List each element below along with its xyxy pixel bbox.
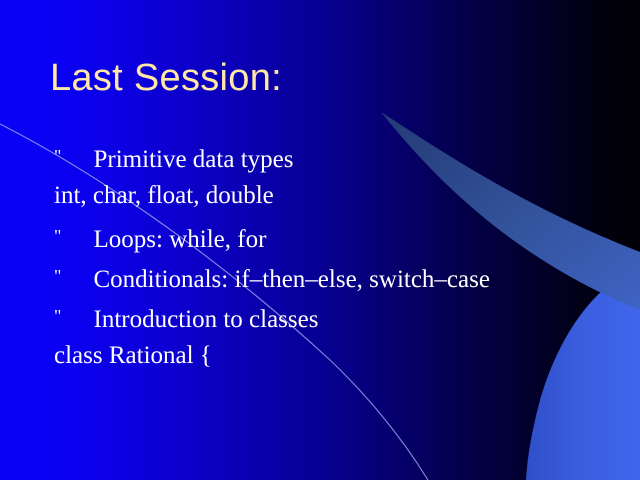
bullet-item-label: Primitive data types	[94, 146, 294, 173]
bullet-glyph-icon: "	[54, 136, 68, 176]
bullet-item: " Primitive data types	[54, 136, 594, 176]
text-line: int, char, float, double	[54, 176, 594, 216]
bullet-item: " Introduction to classes	[54, 296, 594, 336]
text-line: class Rational {	[54, 336, 594, 376]
bullet-item: " Conditionals: if–then–else, switch–cas…	[54, 256, 594, 296]
bullet-glyph-icon: "	[54, 256, 68, 296]
bullet-glyph-icon: "	[54, 216, 68, 256]
bullet-item: " Loops: while, for	[54, 216, 594, 256]
presentation-slide: Last Session: " Primitive data types int…	[0, 0, 640, 480]
slide-title: Last Session:	[50, 55, 282, 101]
bullet-item-label: Introduction to classes	[94, 306, 319, 333]
text-line-label: int, char, float, double	[54, 182, 274, 209]
bullet-item-label: Conditionals: if–then–else, switch–case	[94, 266, 490, 293]
slide-body: " Primitive data types int, char, float,…	[54, 136, 594, 376]
text-line-label: class Rational {	[54, 342, 212, 369]
bullet-item-label: Loops: while, for	[94, 226, 267, 253]
bullet-glyph-icon: "	[54, 296, 68, 336]
